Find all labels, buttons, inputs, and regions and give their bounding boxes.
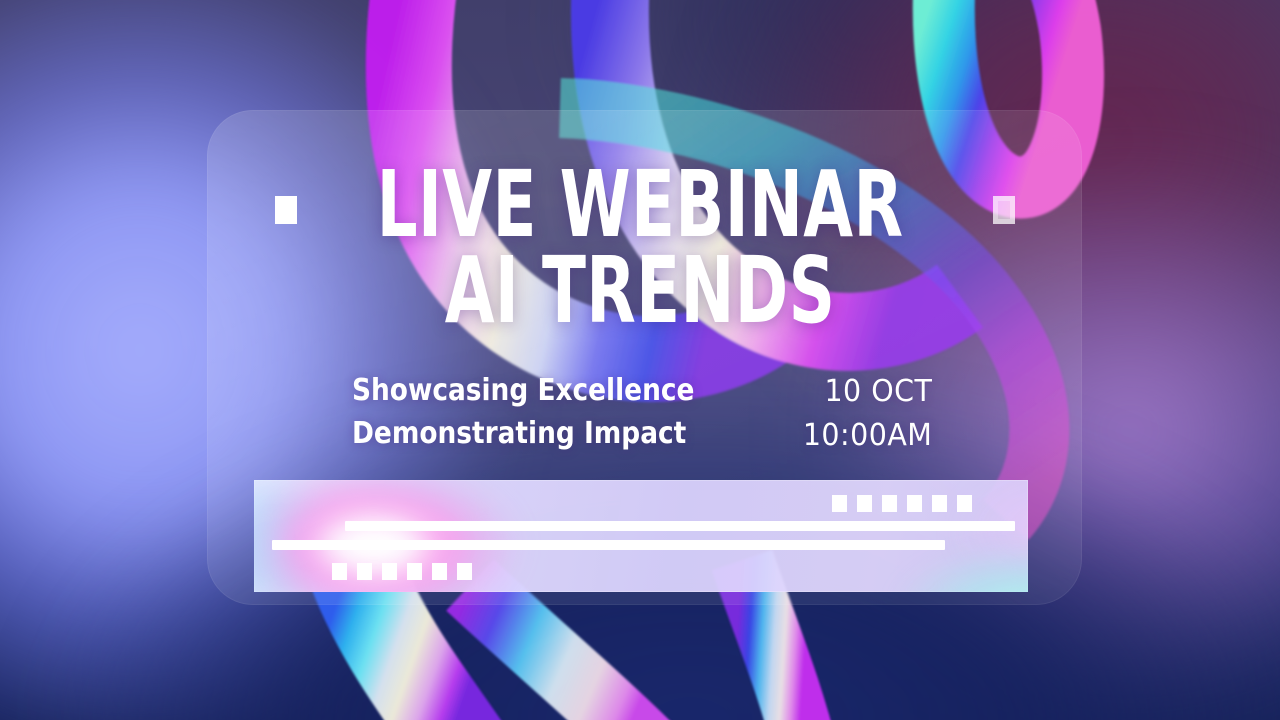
subtitle-schedule-row: Showcasing Excellence Demonstrating Impa… [352, 370, 932, 457]
schedule-block: 10 OCT 10:00AM [802, 370, 932, 457]
page-title: LIVE WEBINAR AI TRENDS [192, 162, 1088, 333]
placeholder-block [407, 563, 422, 580]
placeholder-block [857, 495, 872, 512]
headline-line-2: AI TRENDS [192, 248, 1088, 334]
block-row-bottom [332, 563, 472, 580]
subtitle-line-2: Demonstrating Impact [352, 413, 694, 456]
placeholder-block [907, 495, 922, 512]
placeholder-block [357, 563, 372, 580]
event-date: 10 OCT [802, 370, 932, 414]
footer-placeholder-panel [254, 480, 1028, 592]
placeholder-block [332, 563, 347, 580]
placeholder-bar-top [345, 521, 1015, 531]
placeholder-block [932, 495, 947, 512]
panel-glow-cyan-left [254, 480, 344, 592]
block-row-top [832, 495, 972, 512]
placeholder-block [432, 563, 447, 580]
placeholder-block [382, 563, 397, 580]
placeholder-block [457, 563, 472, 580]
subtitle-block: Showcasing Excellence Demonstrating Impa… [352, 370, 694, 455]
placeholder-block [957, 495, 972, 512]
event-time: 10:00AM [802, 414, 932, 458]
webinar-promo-canvas: LIVE WEBINAR AI TRENDS Showcasing Excell… [0, 0, 1280, 720]
subtitle-line-1: Showcasing Excellence [352, 370, 694, 413]
panel-glow-cyan-bottom [894, 546, 1028, 592]
placeholder-block [882, 495, 897, 512]
placeholder-block [832, 495, 847, 512]
placeholder-bar-bottom [272, 540, 945, 550]
